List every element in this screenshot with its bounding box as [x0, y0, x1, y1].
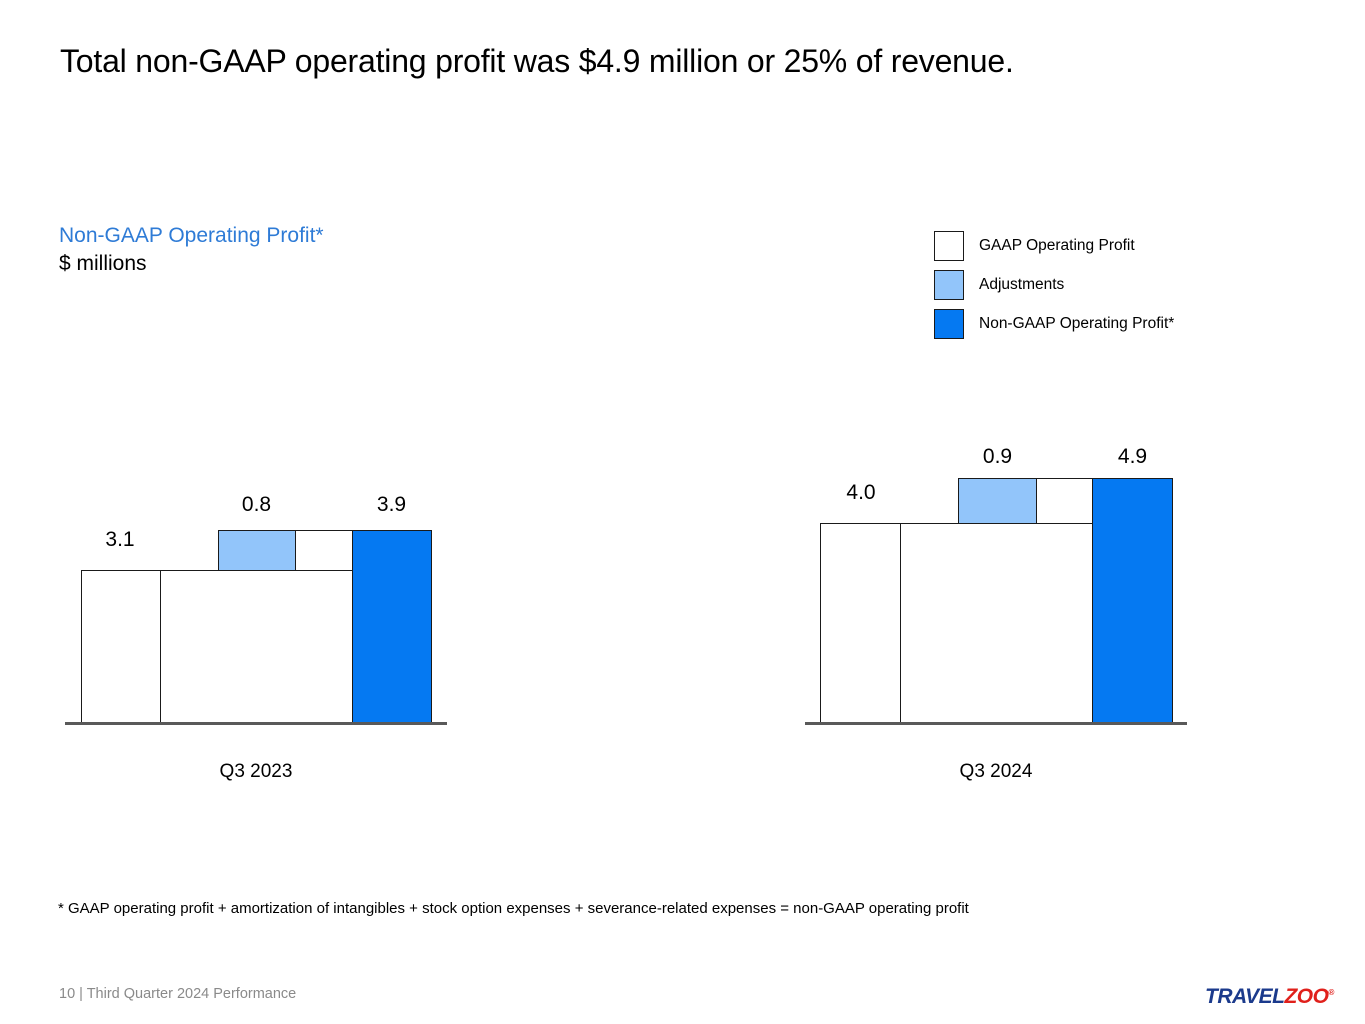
legend-label-non-gaap-operating-profit: Non-GAAP Operating Profit*: [979, 315, 1174, 333]
bar-value-non-gaap-q3-2023: 3.9: [352, 493, 431, 517]
category-label-q3-2024: Q3 2024: [906, 761, 1086, 783]
legend-swatch-adjustments: [934, 270, 964, 300]
bar-value-gaap-q3-2023: 3.1: [80, 528, 160, 552]
bar-gaap-q3-2023: [81, 570, 161, 724]
chart-heading-units: $ millions: [59, 250, 579, 278]
category-label-q3-2023: Q3 2023: [166, 761, 346, 783]
chart-heading-title: Non-GAAP Operating Profit*: [59, 222, 579, 250]
legend-label-gaap-operating-profit: GAAP Operating Profit: [979, 237, 1135, 255]
logo-text-travel: TRAVEL: [1205, 985, 1284, 1008]
travelzoo-logo: TRAVELZOO®: [1205, 980, 1334, 1010]
legend-item-non-gaap-operating-profit: Non-GAAP Operating Profit*: [934, 304, 1174, 343]
bar-non-gaap-q3-2023: [352, 530, 432, 724]
bar-connector-top-q3-2024: [1036, 478, 1093, 524]
page-title: Total non-GAAP operating profit was $4.9…: [60, 40, 1310, 82]
bar-non-gaap-q3-2024: [1092, 478, 1173, 724]
bar-value-adjustments-q3-2024: 0.9: [958, 445, 1037, 469]
bar-connector-q3-2024: [900, 523, 1093, 724]
bar-connector-q3-2023: [160, 570, 353, 724]
chart-legend: GAAP Operating Profit Adjustments Non-GA…: [934, 226, 1174, 343]
legend-swatch-non-gaap-operating-profit: [934, 309, 964, 339]
bar-gaap-q3-2024: [820, 523, 901, 724]
x-axis-q3-2023: [65, 722, 447, 725]
bar-value-non-gaap-q3-2024: 4.9: [1093, 445, 1172, 469]
legend-item-gaap-operating-profit: GAAP Operating Profit: [934, 226, 1174, 265]
legend-item-adjustments: Adjustments: [934, 265, 1174, 304]
legend-swatch-gaap-operating-profit: [934, 231, 964, 261]
legend-label-adjustments: Adjustments: [979, 276, 1064, 294]
bar-value-gaap-q3-2024: 4.0: [821, 481, 901, 505]
bar-adjustments-q3-2024: [958, 478, 1037, 524]
bar-connector-top-q3-2023: [295, 530, 353, 571]
logo-text-zoo: ZOO: [1284, 985, 1328, 1008]
x-axis-q3-2024: [805, 722, 1187, 725]
bar-adjustments-q3-2023: [218, 530, 296, 571]
slide-footer: 10 | Third Quarter 2024 Performance: [59, 986, 296, 1002]
chart-heading: Non-GAAP Operating Profit* $ millions: [59, 222, 579, 278]
logo-registered-mark: ®: [1328, 988, 1333, 997]
footnote: * GAAP operating profit + amortization o…: [58, 900, 969, 917]
bar-value-adjustments-q3-2023: 0.8: [217, 493, 296, 517]
